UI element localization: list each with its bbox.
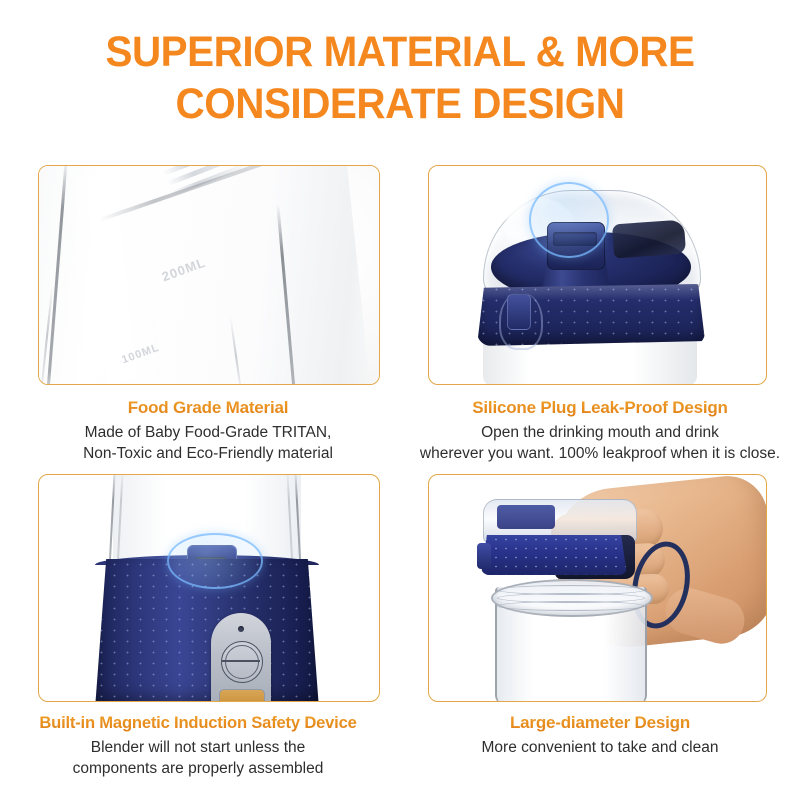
feature-body-silicone-plug-leak-proof-design: Open the drinking mouth and drink wherev… <box>404 422 796 464</box>
lid-blue-band <box>481 535 627 575</box>
drinking-spout <box>612 220 686 259</box>
lid-assembly <box>475 499 645 587</box>
feature-heading-built-in-magnetic-induction-safety-device: Built-in Magnetic Induction Safety Devic… <box>0 713 396 733</box>
power-button-ring <box>225 645 259 679</box>
feature-heading-food-grade-material: Food Grade Material <box>18 398 398 418</box>
feature-caption-large-diameter-design: Large-diameter Design More convenient to… <box>404 713 796 758</box>
lid-inner-plug <box>497 505 555 529</box>
feature-image-large-diameter-design <box>428 474 767 702</box>
feature-caption-built-in-magnetic-induction-safety-device: Built-in Magnetic Induction Safety Devic… <box>0 713 396 779</box>
secondary-button[interactable] <box>219 689 265 701</box>
feature-caption-silicone-plug-leak-proof-design: Silicone Plug Leak-Proof Design Open the… <box>404 398 796 464</box>
jar-thread-3 <box>497 601 645 611</box>
feature-image-built-in-magnetic-induction-safety-device <box>38 474 380 702</box>
power-button-line <box>222 660 260 662</box>
feature-caption-food-grade-material: Food Grade Material Made of Baby Food-Gr… <box>18 398 398 464</box>
feature-body-built-in-magnetic-induction-safety-device: Blender will not start unless the compon… <box>0 737 396 779</box>
feature-heading-large-diameter-design: Large-diameter Design <box>404 713 796 733</box>
feature-image-food-grade-material: 200ML 100ML <box>38 165 380 385</box>
page-title: SUPERIOR MATERIAL & MORE CONSIDERATE DES… <box>24 26 776 130</box>
infographic-page: SUPERIOR MATERIAL & MORE CONSIDERATE DES… <box>0 0 800 800</box>
hand-holding-lid-photo <box>429 475 766 701</box>
led-indicator-icon <box>238 626 244 632</box>
feature-heading-silicone-plug-leak-proof-design: Silicone Plug Leak-Proof Design <box>404 398 796 418</box>
feature-image-silicone-plug-leak-proof-design <box>428 165 767 385</box>
highlight-circle-icon <box>167 533 263 589</box>
lid-dot-texture <box>481 535 627 575</box>
blender-base-photo <box>39 475 379 701</box>
feature-body-food-grade-material: Made of Baby Food-Grade TRITAN, Non-Toxi… <box>18 422 398 464</box>
tritan-bottle-photo: 200ML 100ML <box>39 166 379 384</box>
blender-lid-photo <box>429 166 766 384</box>
highlight-circle-icon <box>529 182 609 258</box>
feature-body-large-diameter-design: More convenient to take and clean <box>404 737 796 758</box>
lid-latch-tab <box>507 294 531 330</box>
lid-latch-tab <box>477 543 491 569</box>
